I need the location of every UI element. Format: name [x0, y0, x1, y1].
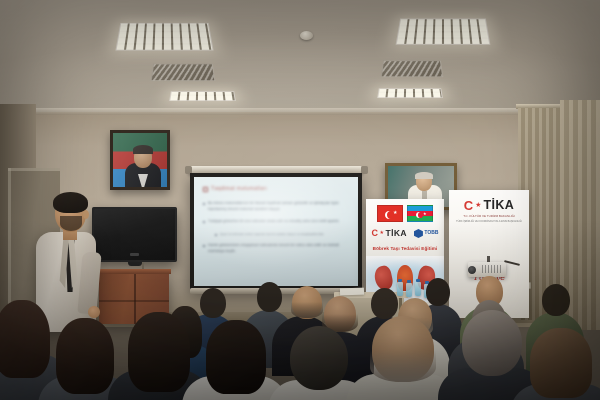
banner-flags-row: ★ ★ — [366, 205, 444, 222]
light-panel-back-right — [377, 88, 443, 98]
framed-portrait-left — [110, 130, 170, 190]
tika-logo: C ★ TİKA — [372, 229, 407, 238]
alcove-top-edge — [8, 168, 60, 171]
projector-vent — [482, 265, 502, 273]
speaker-ear — [83, 210, 89, 219]
water-bottle[interactable] — [406, 283, 412, 297]
banner-right-logo-row: C ★ TİKA — [449, 199, 529, 212]
air-diffuser-right — [381, 61, 443, 78]
photo-scene: Təqdimat məlumatları Bu mövzu məlumatlar… — [0, 0, 600, 400]
air-diffuser-left — [151, 64, 216, 81]
podium-seam — [134, 274, 136, 324]
light-panel-front-left — [115, 23, 213, 51]
tika-logo-c: C — [372, 229, 379, 238]
tobb-mark-icon — [414, 229, 423, 238]
tobb-wordmark: TOBB — [424, 231, 438, 236]
speaker-hair — [53, 192, 88, 213]
water-bottle[interactable] — [397, 282, 403, 296]
banner-title: Böbrek Taşı Tedavisi Eğitimi — [366, 246, 444, 251]
light-panel-front-right — [396, 19, 491, 45]
wall-cornice — [0, 108, 600, 115]
tika-logo-star-icon: ★ — [475, 202, 481, 209]
projector-lens-icon — [468, 266, 476, 274]
azerbaijan-flag-icon: ★ — [407, 205, 433, 222]
tika-logo-wordmark: TİKA — [483, 199, 514, 212]
speaker-hand — [88, 306, 100, 318]
smoke-detector-icon — [300, 31, 313, 40]
podium-seam — [99, 300, 169, 302]
tika-logo-c: C — [464, 199, 473, 212]
alcove-edge — [8, 168, 11, 318]
turkey-flag-icon: ★ — [377, 205, 403, 222]
water-bottle[interactable] — [415, 282, 421, 296]
ceiling-light-wash — [0, 0, 600, 120]
tika-logo-star-icon: ★ — [380, 231, 384, 236]
tv-mount — [128, 262, 142, 266]
banner-right-subtitle-2: TÜRK İŞBİRLİĞİ VE KOORDİNASYON AJANSI BA… — [449, 220, 529, 223]
papers-on-table[interactable] — [340, 288, 364, 296]
banner-right-subtitle: T.C. KÜLTÜR VE TURİZM BAKANLIĞI — [449, 215, 529, 219]
banner-logo-row: C ★ TİKA TOBB — [366, 229, 444, 238]
tv-brand-logo — [130, 253, 139, 256]
tobb-logo: TOBB — [414, 229, 439, 238]
light-panel-back-left — [169, 91, 236, 101]
roller-cap-right — [361, 166, 368, 174]
tika-logo-wordmark: TİKA — [385, 229, 406, 238]
speaker-beard — [60, 216, 82, 231]
projection-screen[interactable]: Təqdimat məlumatları Bu mövzu məlumatlar… — [190, 173, 362, 290]
